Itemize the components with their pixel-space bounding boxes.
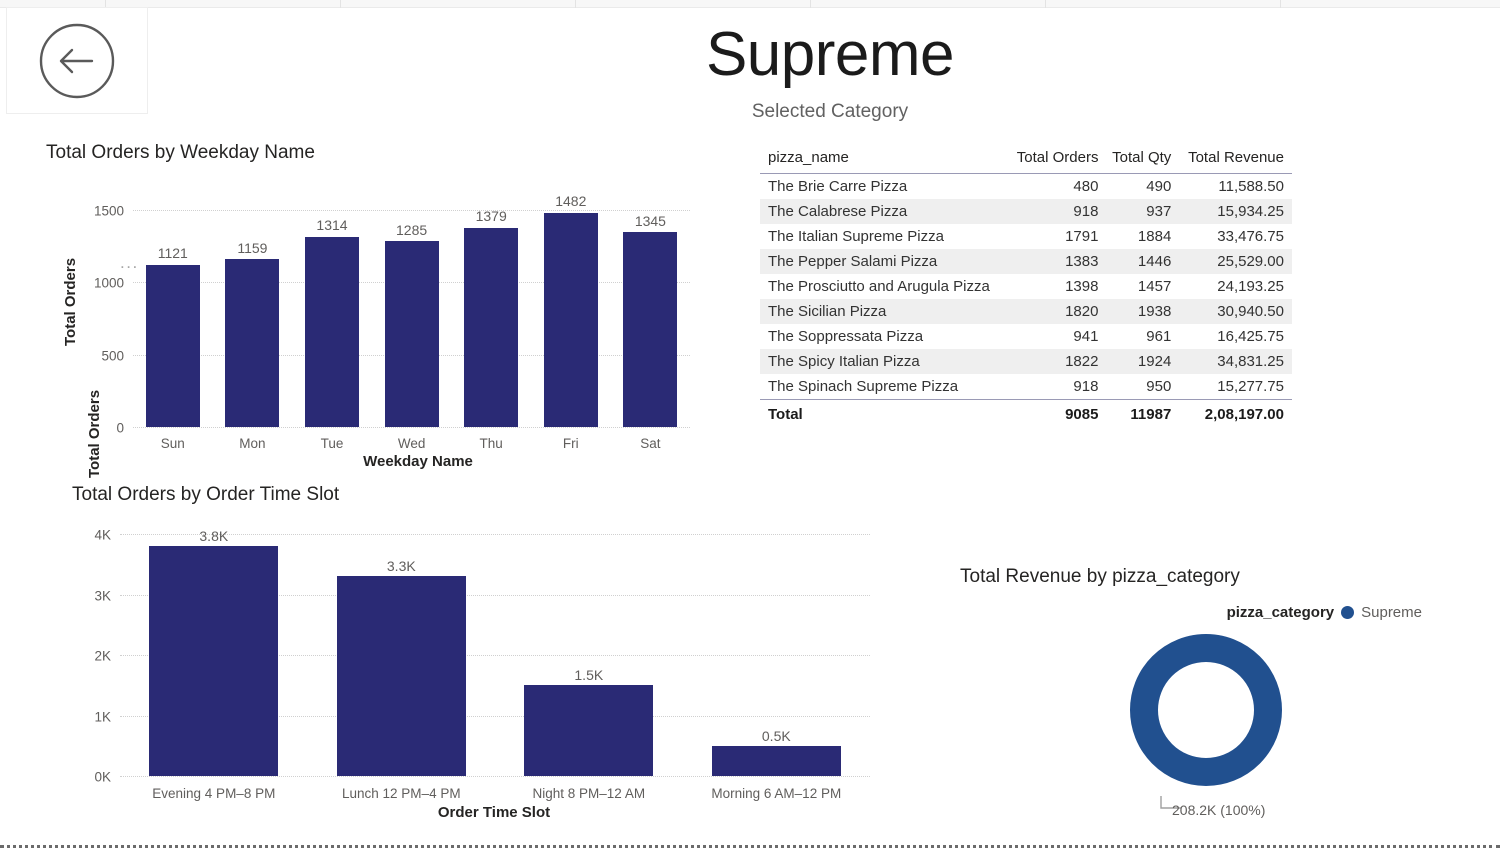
- cell-total-orders-sum: 9085: [1009, 400, 1106, 428]
- cell-pizza-name: The Soppressata Pizza: [760, 324, 1009, 349]
- legend-color-dot-icon: [1341, 606, 1354, 619]
- cell-total-qty: 1884: [1106, 224, 1179, 249]
- bar-lunch[interactable]: [337, 576, 466, 776]
- cell-total-orders: 1822: [1009, 349, 1106, 374]
- bar-value-label: 1121: [158, 245, 188, 261]
- cell-total-orders: 1791: [1009, 224, 1106, 249]
- x-tick-label: Morning 6 AM–12 PM: [711, 786, 841, 801]
- cell-pizza-name: The Prosciutto and Arugula Pizza: [760, 274, 1009, 299]
- y-tick-label: 1K: [94, 709, 111, 724]
- cell-total-qty: 1446: [1106, 249, 1179, 274]
- x-tick-label: Lunch 12 PM–4 PM: [342, 786, 461, 801]
- donut-chart-title: Total Revenue by pizza_category: [960, 566, 1480, 588]
- legend-title: pizza_category: [1227, 604, 1335, 621]
- timeslot-chart-plot: 4K 3K 2K 1K 0K 3.8K 3.3K 1.5K 0.5K Ev: [120, 534, 870, 776]
- bar-value-label: 1482: [555, 193, 586, 209]
- cell-total-revenue: 15,934.25: [1179, 199, 1292, 224]
- pizza-summary-table[interactable]: pizza_name Total Orders Total Qty Total …: [760, 146, 1292, 427]
- y-tick-label: 2K: [94, 649, 111, 664]
- cell-total-revenue: 15,277.75: [1179, 374, 1292, 400]
- bar-mon[interactable]: [225, 259, 279, 427]
- cell-pizza-name: The Spinach Supreme Pizza: [760, 374, 1009, 400]
- bar-night[interactable]: [524, 685, 653, 776]
- bar-value-label: 0.5K: [762, 728, 791, 744]
- bar-sat[interactable]: [623, 232, 677, 427]
- cell-total-revenue: 30,940.50: [1179, 299, 1292, 324]
- bar-evening[interactable]: [149, 546, 278, 776]
- cell-total-qty: 1457: [1106, 274, 1179, 299]
- x-tick-label: Evening 4 PM–8 PM: [152, 786, 275, 801]
- y-tick-label: 4K: [94, 528, 111, 543]
- table-row[interactable]: The Italian Supreme Pizza 1791 1884 33,4…: [760, 224, 1292, 249]
- weekday-chart-xaxis-title: Weekday Name: [363, 453, 473, 470]
- cell-total-orders: 918: [1009, 374, 1106, 400]
- cell-total-label: Total: [760, 400, 1009, 428]
- bar-thu[interactable]: [464, 228, 518, 428]
- cell-total-revenue: 24,193.25: [1179, 274, 1292, 299]
- timeslot-chart-yaxis-title: Total Orders: [86, 390, 103, 478]
- cell-pizza-name: The Pepper Salami Pizza: [760, 249, 1009, 274]
- column-header-total-qty[interactable]: Total Qty: [1106, 146, 1179, 174]
- cell-total-qty: 1924: [1106, 349, 1179, 374]
- revenue-by-category-donut-chart[interactable]: Total Revenue by pizza_category pizza_ca…: [960, 566, 1480, 836]
- bar-value-label: 1314: [316, 217, 347, 233]
- top-chrome-strip: [0, 0, 1500, 8]
- table-row[interactable]: The Soppressata Pizza 941 961 16,425.75: [760, 324, 1292, 349]
- bar-fri[interactable]: [544, 213, 598, 427]
- cell-total-orders: 941: [1009, 324, 1106, 349]
- cell-pizza-name: The Brie Carre Pizza: [760, 174, 1009, 200]
- cell-total-qty: 950: [1106, 374, 1179, 400]
- table-row[interactable]: The Prosciutto and Arugula Pizza 1398 14…: [760, 274, 1292, 299]
- table-row[interactable]: The Brie Carre Pizza 480 490 11,588.50: [760, 174, 1292, 200]
- cell-total-revenue: 11,588.50: [1179, 174, 1292, 200]
- donut-data-label: 208.2K (100%): [1172, 802, 1265, 818]
- cell-total-revenue: 33,476.75: [1179, 224, 1292, 249]
- bar-value-label: 1379: [476, 208, 507, 224]
- cell-total-revenue: 16,425.75: [1179, 324, 1292, 349]
- cell-pizza-name: The Sicilian Pizza: [760, 299, 1009, 324]
- cell-total-qty: 961: [1106, 324, 1179, 349]
- column-header-pizza-name[interactable]: pizza_name: [760, 146, 1009, 174]
- cell-total-revenue: 25,529.00: [1179, 249, 1292, 274]
- table-row[interactable]: The Sicilian Pizza 1820 1938 30,940.50: [760, 299, 1292, 324]
- page-subtitle: Selected Category: [600, 101, 1060, 123]
- gridline: 0K: [120, 776, 870, 777]
- cell-total-orders: 1398: [1009, 274, 1106, 299]
- x-tick-label: Night 8 PM–12 AM: [533, 786, 646, 801]
- timeslot-orders-chart[interactable]: Total Orders by Order Time Slot Total Or…: [0, 478, 900, 828]
- page-title: Supreme: [600, 22, 1060, 89]
- cell-pizza-name: The Calabrese Pizza: [760, 199, 1009, 224]
- y-tick-label: 1000: [94, 276, 124, 291]
- timeslot-chart-title: Total Orders by Order Time Slot: [72, 484, 339, 506]
- bar-value-label: 3.8K: [199, 528, 228, 544]
- y-tick-label: 3K: [94, 588, 111, 603]
- bar-sun[interactable]: [146, 265, 200, 427]
- cell-total-qty: 1938: [1106, 299, 1179, 324]
- x-tick-label: Mon: [239, 436, 265, 451]
- cell-total-revenue-sum: 2,08,197.00: [1179, 400, 1292, 428]
- column-header-total-revenue[interactable]: Total Revenue: [1179, 146, 1292, 174]
- x-tick-label: Tue: [321, 436, 344, 451]
- weekday-chart-yaxis-title: Total Orders: [62, 258, 79, 346]
- donut-legend[interactable]: pizza_category Supreme: [1227, 604, 1422, 621]
- gridline: 4K: [120, 534, 870, 535]
- weekday-chart-plot: 1500 1000 500 0 1121 1159 1314 1285: [133, 210, 690, 427]
- x-tick-label: Fri: [563, 436, 579, 451]
- weekday-orders-chart[interactable]: ... Total Orders by Weekday Name Total O…: [0, 128, 740, 478]
- table-row[interactable]: The Spicy Italian Pizza 1822 1924 34,831…: [760, 349, 1292, 374]
- x-tick-label: Wed: [398, 436, 426, 451]
- back-arrow-icon: [38, 22, 116, 100]
- weekday-chart-title: Total Orders by Weekday Name: [46, 142, 315, 164]
- cell-pizza-name: The Italian Supreme Pizza: [760, 224, 1009, 249]
- back-button[interactable]: [6, 7, 148, 114]
- cell-total-qty: 490: [1106, 174, 1179, 200]
- bar-value-label: 1159: [237, 240, 267, 256]
- cell-total-orders: 1383: [1009, 249, 1106, 274]
- table-row[interactable]: The Calabrese Pizza 918 937 15,934.25: [760, 199, 1292, 224]
- x-tick-label: Sat: [640, 436, 660, 451]
- cell-total-orders: 1820: [1009, 299, 1106, 324]
- bar-value-label: 1.5K: [574, 667, 603, 683]
- cell-total-revenue: 34,831.25: [1179, 349, 1292, 374]
- legend-item-supreme[interactable]: Supreme: [1361, 604, 1422, 621]
- timeslot-chart-xaxis-title: Order Time Slot: [438, 804, 550, 821]
- bar-value-label: 1345: [635, 213, 666, 229]
- donut-slice-supreme[interactable]: [1130, 634, 1282, 786]
- bar-wed[interactable]: [385, 241, 439, 427]
- bar-value-label: 1285: [396, 222, 427, 238]
- table-row[interactable]: The Pepper Salami Pizza 1383 1446 25,529…: [760, 249, 1292, 274]
- report-page: Supreme Selected Category ... Total Orde…: [0, 0, 1500, 848]
- gridline: 1500: [133, 210, 690, 211]
- table-row[interactable]: The Spinach Supreme Pizza 918 950 15,277…: [760, 374, 1292, 400]
- cell-total-qty: 937: [1106, 199, 1179, 224]
- y-tick-label: 500: [101, 348, 124, 363]
- x-tick-label: Thu: [480, 436, 503, 451]
- cell-total-orders: 918: [1009, 199, 1106, 224]
- y-tick-label: 0K: [94, 770, 111, 785]
- cell-total-orders: 480: [1009, 174, 1106, 200]
- bar-tue[interactable]: [305, 237, 359, 427]
- x-tick-label: Sun: [161, 436, 185, 451]
- gridline: 0: [133, 427, 690, 428]
- y-tick-label: 1500: [94, 204, 124, 219]
- table-header-row: pizza_name Total Orders Total Qty Total …: [760, 146, 1292, 174]
- y-tick-label: 0: [116, 421, 124, 436]
- column-header-total-orders[interactable]: Total Orders: [1009, 146, 1106, 174]
- bar-value-label: 3.3K: [387, 558, 416, 574]
- cell-total-qty-sum: 11987: [1106, 400, 1179, 428]
- table-total-row: Total 9085 11987 2,08,197.00: [760, 400, 1292, 428]
- cell-pizza-name: The Spicy Italian Pizza: [760, 349, 1009, 374]
- bar-morning[interactable]: [712, 746, 841, 776]
